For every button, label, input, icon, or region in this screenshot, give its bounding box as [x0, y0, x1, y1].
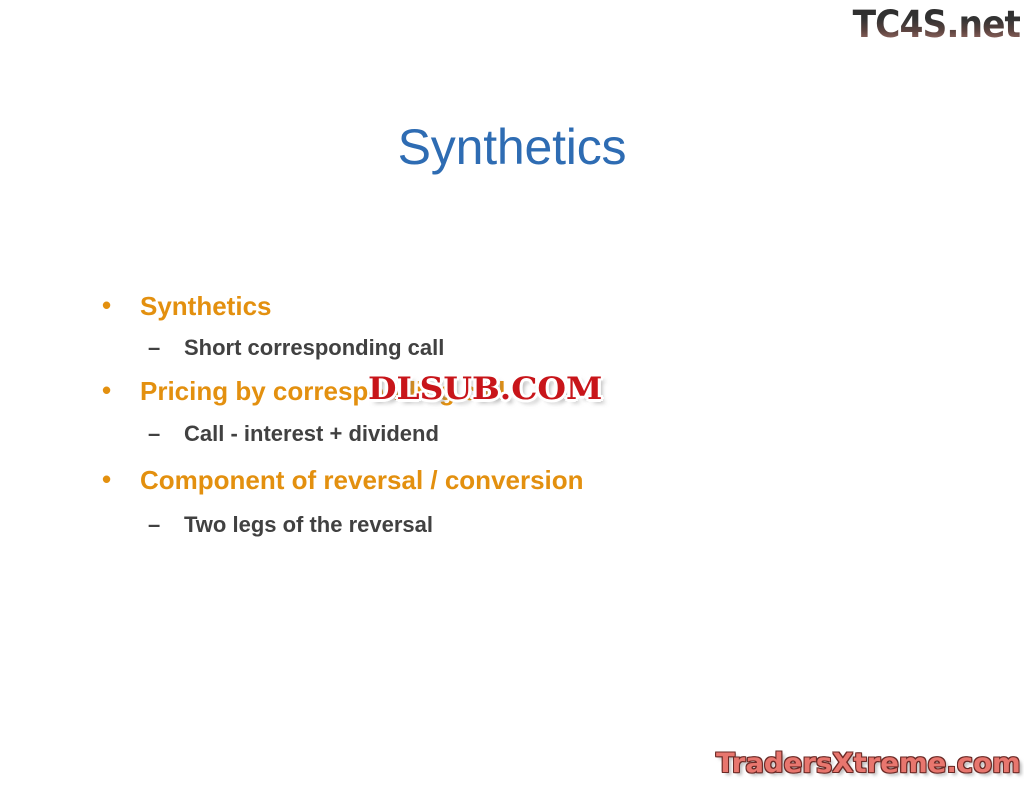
slide-body-bullet-list: • Synthetics – Short corresponding call …	[96, 292, 916, 537]
spacer	[96, 495, 916, 512]
spacer	[96, 407, 916, 421]
bullet-marker-dot-icon: •	[102, 291, 111, 320]
slide-title: Synthetics	[0, 118, 1024, 176]
bullet-marker-dash-icon: –	[148, 335, 160, 360]
presentation-slide: TC4S.net Synthetics • Synthetics – Short…	[0, 0, 1024, 791]
bullet-item-level2: – Call - interest + dividend	[96, 421, 916, 446]
tradersxtreme-watermark: TradersXtreme.com	[716, 748, 1021, 780]
spacer	[96, 321, 916, 335]
spacer	[96, 446, 916, 466]
bullet-marker-dot-icon: •	[102, 376, 111, 405]
bullet-item-level1: • Component of reversal / conversion	[96, 466, 916, 495]
bullet-item-level1: • Synthetics	[96, 292, 916, 321]
tc4s-brand-logo: TC4S.net	[841, 1, 1020, 49]
bullet-text-two-legs-of-the-reversal: Two legs of the reversal	[184, 512, 433, 537]
bullet-marker-dot-icon: •	[102, 465, 111, 494]
bullet-item-level2: – Two legs of the reversal	[96, 512, 916, 537]
bullet-text-component-of-reversal-conversion: Component of reversal / conversion	[140, 465, 584, 495]
dlsub-watermark: DLSUB.COM	[368, 372, 602, 406]
bullet-item-level2: – Short corresponding call	[96, 335, 916, 360]
bullet-marker-dash-icon: –	[148, 512, 160, 537]
bullet-text-short-corresponding-call: Short corresponding call	[184, 335, 444, 360]
bullet-marker-dash-icon: –	[148, 421, 160, 446]
bullet-text-call-interest-dividend: Call - interest + dividend	[184, 421, 439, 446]
bullet-text-synthetics: Synthetics	[140, 291, 272, 321]
